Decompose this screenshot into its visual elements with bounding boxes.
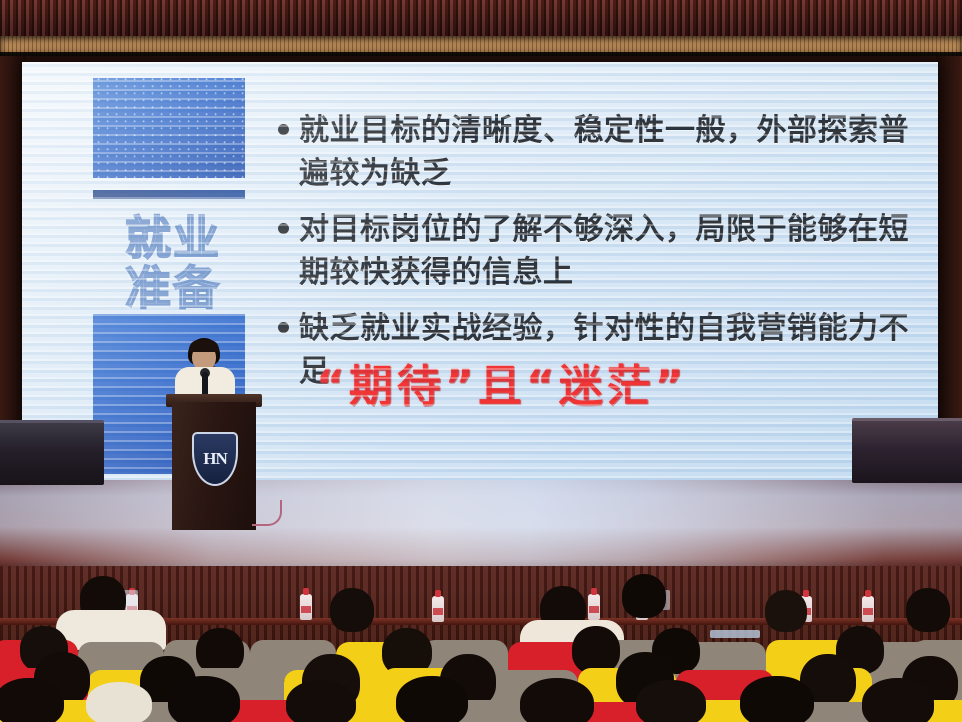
lectern: HN (172, 402, 256, 530)
presenter-fringe (189, 340, 219, 352)
audience-head (396, 676, 468, 722)
slide-title-line-2: 准备 (125, 261, 221, 315)
university-shield-emblem-icon: HN (192, 432, 238, 486)
microphone-cable (252, 500, 282, 526)
audience-head (740, 676, 814, 722)
audience-head (330, 588, 374, 632)
water-bottle (432, 596, 444, 622)
water-bottle (300, 594, 312, 620)
audience-head (906, 588, 950, 632)
audience-area (0, 566, 962, 722)
slide-section-title: 就业准备 (88, 214, 258, 313)
bullet-dot-icon (278, 124, 289, 135)
stage-floor (0, 480, 962, 570)
bullet-text: 就业目标的清晰度、稳定性一般，外部探索普遍较为缺乏 (299, 110, 926, 195)
audience-head-cap (86, 682, 152, 722)
bullet-dot-icon (278, 223, 289, 234)
slide-red-headline: “期待”且“迷茫” (316, 350, 688, 414)
water-bottle (588, 594, 600, 620)
stage-left-railing (0, 420, 104, 485)
desk-surface-glow (710, 630, 760, 638)
slide-content: 就业准备 就业目标的清晰度、稳定性一般，外部探索普遍较 (22, 62, 938, 480)
audience-head (572, 626, 620, 674)
decorative-blue-image-box (93, 78, 245, 178)
audience-head (286, 680, 356, 722)
audience-head (0, 678, 64, 722)
emblem-monogram: HN (203, 449, 227, 469)
audience-head (862, 678, 934, 722)
audience-head (765, 590, 807, 632)
slide-title-line-1: 就业 (125, 211, 221, 265)
water-bottle (862, 596, 874, 622)
audience-head (520, 678, 594, 722)
led-presentation-screen: 就业准备 就业目标的清晰度、稳定性一般，外部探索普遍较 (22, 62, 938, 480)
audience-head (168, 676, 240, 722)
list-item: 对目标岗位的了解不够深入，局限于能够在短期较快获得的信息上 (278, 209, 926, 294)
stage-right-railing (852, 418, 962, 483)
slide-right-panel: 就业目标的清晰度、稳定性一般，外部探索普遍较为缺乏 对目标岗位的了解不够深入，局… (272, 62, 938, 480)
bullet-text: 对目标岗位的了解不够深入，局限于能够在短期较快获得的信息上 (299, 209, 926, 294)
bullet-dot-icon (278, 322, 289, 333)
auditorium-photo: 就业准备 就业目标的清晰度、稳定性一般，外部探索普遍较 (0, 0, 962, 722)
title-divider-bar (93, 190, 245, 199)
audience-head (622, 574, 666, 618)
list-item: 就业目标的清晰度、稳定性一般，外部探索普遍较为缺乏 (278, 110, 926, 195)
audience-head (636, 680, 706, 722)
